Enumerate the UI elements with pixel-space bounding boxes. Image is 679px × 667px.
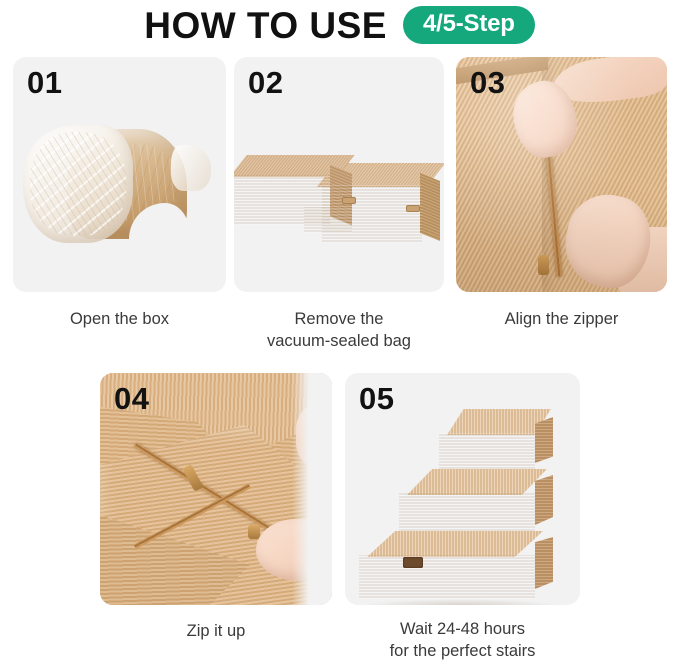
floor-shadow bbox=[363, 599, 559, 605]
step-caption-01: Open the box bbox=[13, 308, 226, 330]
step-card-05[interactable]: 05 bbox=[345, 373, 580, 605]
step-card-02[interactable]: 02 bbox=[234, 57, 444, 292]
brand-logo-tag bbox=[403, 557, 423, 568]
step-number-02: 02 bbox=[248, 67, 283, 98]
step-number-01: 01 bbox=[27, 67, 62, 98]
page-header: HOW TO USE 4/5-Step bbox=[0, 0, 679, 50]
step-caption-05-line1: Wait 24-48 hours bbox=[345, 618, 580, 640]
step-count-badge: 4/5-Step bbox=[403, 6, 535, 44]
background-fade bbox=[292, 373, 332, 605]
step-caption-03: Align the zipper bbox=[456, 308, 667, 330]
foam-blocks-illustration bbox=[234, 145, 444, 255]
step-caption-04: Zip it up bbox=[100, 620, 332, 642]
step-caption-02-line2: vacuum-sealed bag bbox=[234, 330, 444, 352]
pet-stairs-illustration bbox=[355, 403, 570, 588]
step-caption-05-line2: for the perfect stairs bbox=[345, 640, 580, 662]
step-card-03[interactable]: 03 bbox=[456, 57, 667, 292]
page-title: HOW TO USE bbox=[144, 7, 387, 44]
step-card-01[interactable]: 01 bbox=[13, 57, 226, 292]
step-caption-05: Wait 24-48 hours for the perfect stairs bbox=[345, 618, 580, 663]
step-caption-02-line1: Remove the bbox=[234, 308, 444, 330]
step-number-04: 04 bbox=[114, 383, 149, 414]
step-number-05: 05 bbox=[359, 383, 394, 414]
step-caption-02: Remove the vacuum-sealed bag bbox=[234, 308, 444, 353]
vacuum-bag-illustration bbox=[21, 119, 221, 259]
step-card-04[interactable]: 04 bbox=[100, 373, 332, 605]
step-number-03: 03 bbox=[470, 67, 505, 98]
